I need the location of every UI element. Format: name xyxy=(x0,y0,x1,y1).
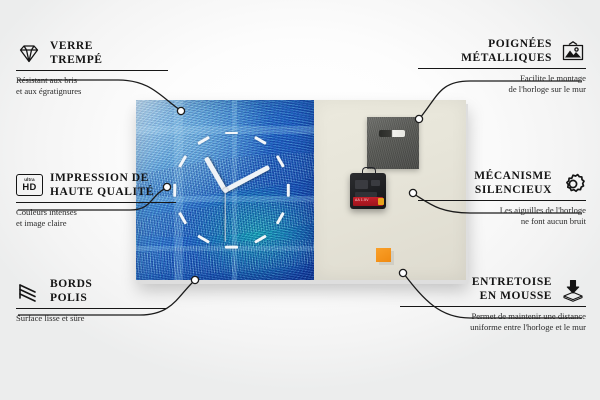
connector-dot-mecanisme xyxy=(409,189,416,196)
feature-header: ultra HD IMPRESSION DE HAUTE QUALITÉ xyxy=(16,172,176,199)
infographic-canvas: AA 1.5V xyxy=(0,0,600,400)
feature-title: IMPRESSION DE HAUTE QUALITÉ xyxy=(50,172,154,199)
connector-dot-poignees xyxy=(415,115,422,122)
feature-divider xyxy=(400,306,586,307)
feature-subtitle: Surface lisse et sûre xyxy=(16,313,166,324)
feature-impression-haute-qualite: ultra HD IMPRESSION DE HAUTE QUALITÉ Cou… xyxy=(16,172,176,228)
diamond-icon xyxy=(16,42,42,66)
feature-subtitle: Résistant aux bris et aux égratignures xyxy=(16,75,168,96)
feature-title: POIGNÉES MÉTALLIQUES xyxy=(461,38,552,65)
feature-bords-polis: BORDS POLIS Surface lisse et sûre xyxy=(16,278,166,324)
feature-subtitle: Permet de maintenir une distance uniform… xyxy=(400,311,586,332)
ultra-hd-badge-icon: ultra HD xyxy=(16,174,42,198)
connector-dot-bords xyxy=(191,276,198,283)
feature-header: POIGNÉES MÉTALLIQUES xyxy=(418,38,586,65)
feature-header: BORDS POLIS xyxy=(16,278,166,305)
feature-divider xyxy=(16,308,166,309)
feature-title: BORDS POLIS xyxy=(50,278,92,305)
hd-badge-main-text: HD xyxy=(22,182,36,191)
feature-divider xyxy=(418,68,586,69)
gear-icon xyxy=(560,172,586,196)
feature-header: VERRE TREMPÉ xyxy=(16,40,168,67)
feature-divider xyxy=(16,202,176,203)
feature-title: ENTRETOISE EN MOUSSE xyxy=(472,276,552,303)
connector-dot-verre xyxy=(177,107,184,114)
feature-header: MÉCANISME SILENCIEUX xyxy=(418,170,586,197)
feature-mecanisme-silencieux: MÉCANISME SILENCIEUX Les aiguilles de l'… xyxy=(418,170,586,226)
feature-divider xyxy=(418,200,586,201)
picture-frame-hanger-icon xyxy=(560,40,586,64)
feature-header: ENTRETOISE EN MOUSSE xyxy=(400,276,586,303)
polished-edges-icon xyxy=(16,280,42,304)
feature-verre-trempe: VERRE TREMPÉ Résistant aux bris et aux é… xyxy=(16,40,168,96)
feature-subtitle: Couleurs intenses et image claire xyxy=(16,207,176,228)
feature-subtitle: Les aiguilles de l'horloge ne font aucun… xyxy=(418,205,586,226)
feature-entretoise-en-mousse: ENTRETOISE EN MOUSSE Permet de maintenir… xyxy=(400,276,586,332)
feature-divider xyxy=(16,70,168,71)
feature-poignees-metalliques: POIGNÉES MÉTALLIQUES Facilite le montage… xyxy=(418,38,586,94)
feature-title: VERRE TREMPÉ xyxy=(50,40,103,67)
feature-subtitle: Facilite le montage de l'horloge sur le … xyxy=(418,73,586,94)
arrow-down-layers-icon xyxy=(560,278,586,302)
feature-title: MÉCANISME SILENCIEUX xyxy=(474,170,552,197)
